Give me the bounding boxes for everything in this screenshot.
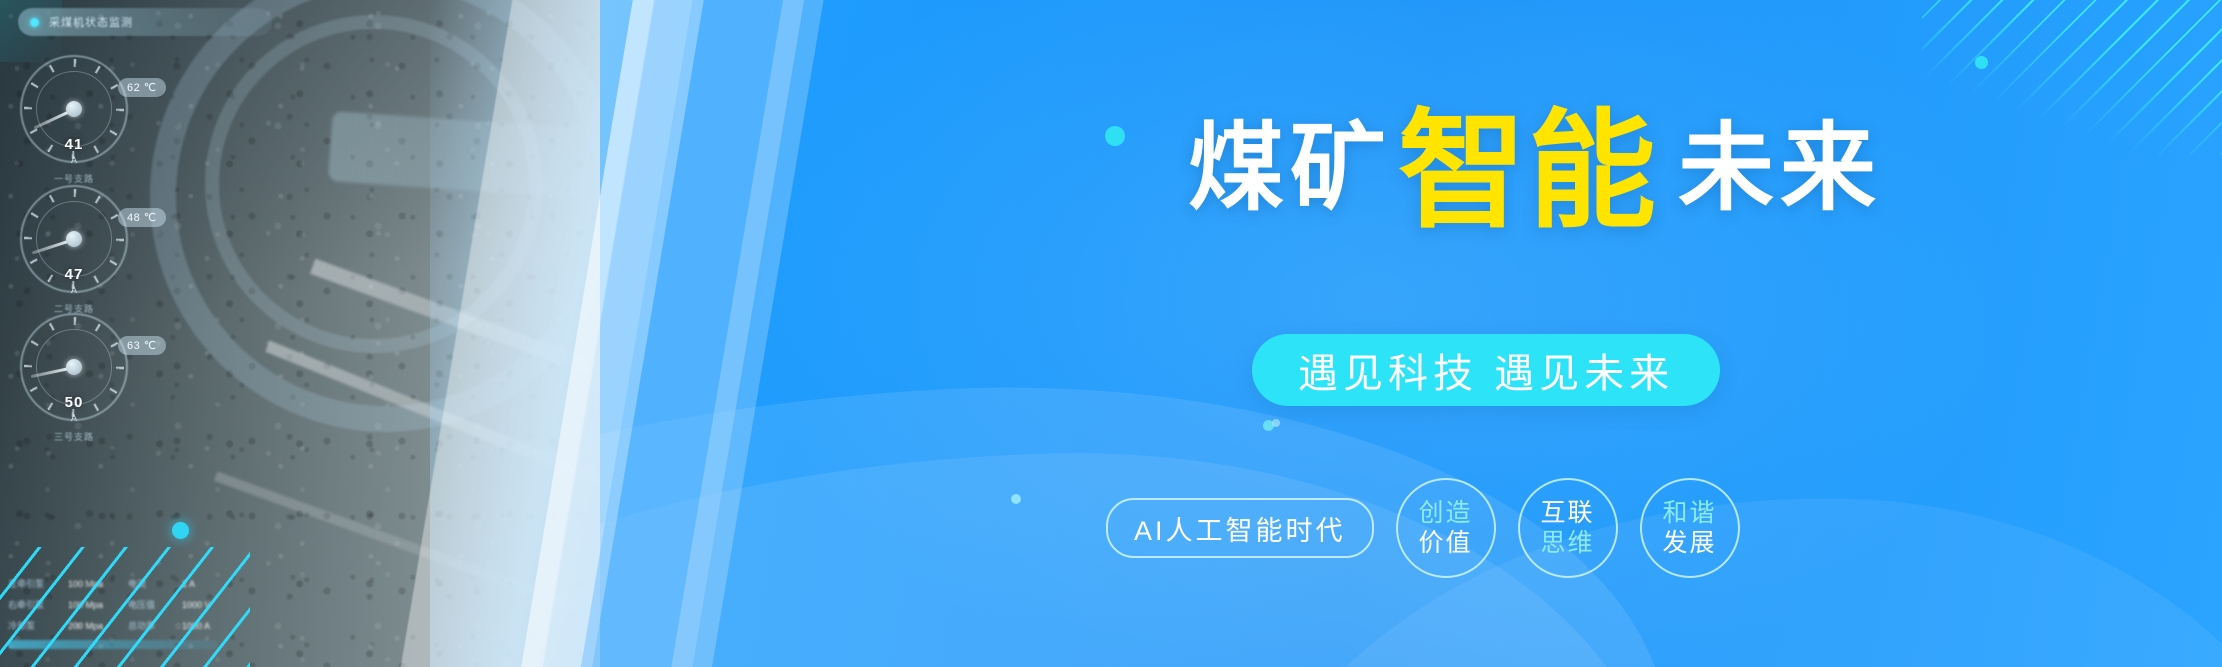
row-value-2: 1000 V [182, 600, 211, 610]
row-label: 冷却泵 [8, 619, 60, 632]
gauge-caption: 一号支路 [20, 172, 128, 185]
decorative-dot-4 [1011, 494, 1021, 504]
badge-circle-line-2: 价值 [1419, 529, 1473, 557]
badge-circle-line-1: 和谐 [1663, 499, 1717, 527]
row-value-2: 1 A [182, 579, 195, 589]
gauge-value: 41 [20, 136, 128, 153]
gauge-hub [66, 359, 82, 375]
gauge-unit: A [20, 285, 128, 295]
gauge-unit: A [20, 413, 128, 423]
gauge-unit: A [20, 155, 128, 165]
page-title: 煤矿智能未来 [1060, 108, 2010, 236]
gauge-hub [66, 231, 82, 247]
row-label-2: 总功率 [128, 619, 174, 632]
temp-badge-2: 48 ℃ [118, 208, 166, 227]
row-label-2: 电压值 [128, 598, 174, 611]
decorative-dot-6 [172, 522, 189, 539]
content-column: 煤矿智能未来 遇见科技 遇见未来 AI人工智能时代 创造 价值 互联 思维 和谐… [1060, 0, 2222, 667]
table-row: 左牵引泵 100 Mpa 电流 1 A [8, 577, 218, 590]
gauge-value: 50 [20, 394, 128, 411]
table-row: 冷却泵 200 Mpa 总功率 1000 A [8, 619, 218, 632]
gauge-3: 50 A 三号支路 [20, 313, 128, 421]
title-highlight: 智能 [1398, 100, 1658, 243]
row-value: 100 Mpa [68, 600, 120, 610]
badge-row: AI人工智能时代 创造 价值 互联 思维 和谐 发展 [1060, 478, 2106, 578]
hud-title-text: 采煤机状态监测 [49, 14, 133, 30]
row-label: 左牵引泵 [8, 577, 60, 590]
badge-circle-line-1: 创造 [1419, 499, 1473, 527]
title-part-2: 未来 [1678, 115, 1882, 222]
table-row: 右牵引泵 100 Mpa 电压值 1000 V [8, 598, 218, 611]
temp-badge-3: 63 ℃ [118, 336, 166, 355]
badge-circle-connected-thinking[interactable]: 互联 思维 [1518, 478, 1618, 578]
row-label: 右牵引泵 [8, 598, 60, 611]
gauge-caption: 三号支路 [20, 430, 128, 443]
hud-title-bar: 采煤机状态监测 [18, 8, 272, 36]
badge-circle-line-2: 思维 [1541, 529, 1595, 557]
progress-bar [8, 640, 218, 649]
row-value-2: 1000 A [182, 621, 210, 631]
badge-ai-pill[interactable]: AI人工智能时代 [1106, 498, 1374, 558]
gauge-hub [66, 101, 82, 117]
gauge-2: 47 A 二号支路 [20, 185, 128, 293]
badge-circle-create-value[interactable]: 创造 价值 [1396, 478, 1496, 578]
title-part-1: 煤矿 [1188, 115, 1392, 222]
badge-circle-line-1: 互联 [1541, 499, 1595, 527]
badge-circle-harmonious-development[interactable]: 和谐 发展 [1640, 478, 1740, 578]
subtitle-pill: 遇见科技 遇见未来 [1252, 334, 1720, 406]
temp-badge-1: 62 ℃ [118, 78, 166, 97]
hud-data-table: 左牵引泵 100 Mpa 电流 1 A 右牵引泵 100 Mpa 电压值 100… [8, 577, 218, 649]
gauge-1: 41 A 一号支路 [20, 55, 128, 163]
badge-circle-line-2: 发展 [1663, 529, 1717, 557]
row-label-2: 电流 [128, 577, 174, 590]
hero-banner: 采煤机状态监测 41 A 一号支路 62 ℃ 47 [0, 0, 2222, 667]
subtitle-text: 遇见科技 遇见未来 [1298, 341, 1674, 399]
badge-ai-label: AI人工智能时代 [1134, 509, 1346, 548]
row-value: 100 Mpa [68, 579, 120, 589]
status-dot-icon [30, 18, 39, 27]
gauge-value: 47 [20, 266, 128, 283]
row-value: 200 Mpa [68, 621, 120, 631]
